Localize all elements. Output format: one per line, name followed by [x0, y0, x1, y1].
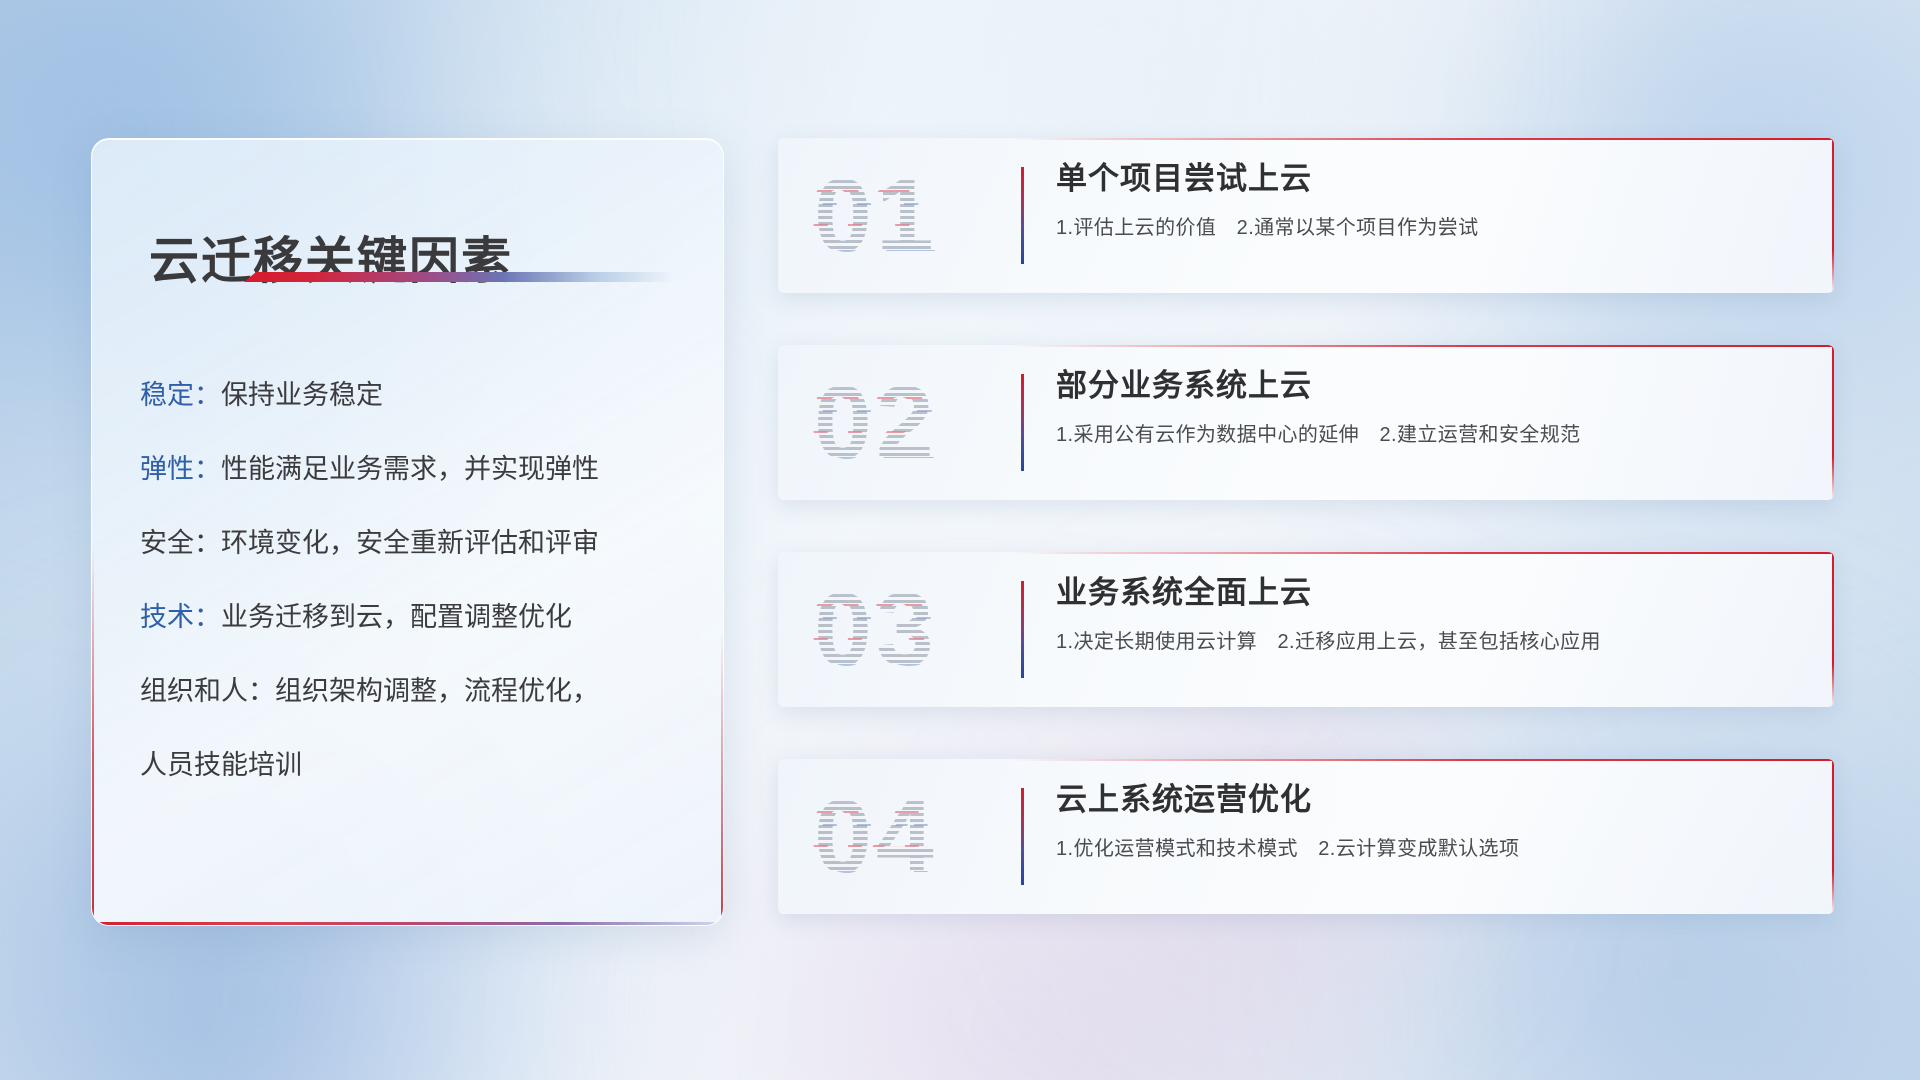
factor-value: 环境变化，安全重新评估和评审 [221, 528, 599, 558]
card-body: 云上系统运营优化 1.优化运营模式和技术模式 2.云计算变成默认选项 [1056, 781, 1794, 862]
factor-value: 性能满足业务需求，并实现弹性 [221, 454, 599, 484]
factor-value: 组织架构调整，流程优化， [275, 676, 599, 706]
card-right-accent-line [1832, 552, 1834, 707]
card-divider-bar [1021, 581, 1024, 678]
stage-points: 1.优化运营模式和技术模式 2.云计算变成默认选项 [1056, 836, 1794, 862]
stage-card-01[interactable]: 01 01 01 01 单个项目尝试上云 1.评估上云的价值 2.通常以某个项目… [778, 138, 1834, 293]
card-top-accent-line [1010, 345, 1834, 347]
card-divider-bar [1021, 788, 1024, 885]
stage-card-03[interactable]: 03 03 03 03 业务系统全面上云 1.决定长期使用云计算 2.迁移应用上… [778, 552, 1834, 707]
factor-key: 安全： [140, 528, 221, 558]
stage-number-glyph: 01 01 01 01 [814, 156, 1004, 276]
stage-card-02[interactable]: 02 02 02 02 部分业务系统上云 1.采用公有云作为数据中心的延伸 2.… [778, 345, 1834, 500]
panel-right-accent-edge [721, 626, 723, 925]
card-body: 业务系统全面上云 1.决定长期使用云计算 2.迁移应用上云，甚至包括核心应用 [1056, 574, 1794, 655]
stage-title: 单个项目尝试上云 [1056, 160, 1794, 199]
card-divider-bar [1021, 374, 1024, 471]
stage-number-glyph: 04 04 04 04 [814, 777, 1004, 897]
migration-stage-list: 01 01 01 01 单个项目尝试上云 1.评估上云的价值 2.通常以某个项目… [778, 138, 1834, 914]
factor-item-organization-continued: 人员技能培训 [140, 752, 697, 779]
factor-item-security: 安全：环境变化，安全重新评估和评审 [140, 530, 697, 557]
factor-item-organization: 组织和人：组织架构调整，流程优化， [140, 678, 697, 705]
factor-key: 稳定： [140, 380, 221, 410]
stage-title: 云上系统运营优化 [1056, 781, 1794, 820]
stage-card-04[interactable]: 04 04 04 04 云上系统运营优化 1.优化运营模式和技术模式 2.云计算… [778, 759, 1834, 914]
factor-list: 稳定：保持业务稳定 弹性：性能满足业务需求，并实现弹性 安全：环境变化，安全重新… [140, 382, 697, 779]
stage-number-fade-overlay: 01 [814, 156, 1004, 276]
stage-number-fade-overlay: 04 [814, 777, 1004, 897]
factor-key: 弹性： [140, 454, 221, 484]
stage-title: 业务系统全面上云 [1056, 574, 1794, 613]
card-body: 单个项目尝试上云 1.评估上云的价值 2.通常以某个项目作为尝试 [1056, 160, 1794, 241]
card-divider-bar [1021, 167, 1024, 264]
stage-number-fade-overlay: 03 [814, 570, 1004, 690]
stage-title: 部分业务系统上云 [1056, 367, 1794, 406]
card-top-accent-line [1010, 138, 1834, 140]
factor-item-stability: 稳定：保持业务稳定 [140, 382, 697, 409]
stage-number-fade-overlay: 02 [814, 363, 1004, 483]
factor-key: 技术： [140, 602, 221, 632]
factor-key: 组织和人： [140, 676, 275, 706]
stage-number-glyph: 03 03 03 03 [814, 570, 1004, 690]
panel-left-accent-edge [92, 548, 94, 925]
stage-points: 1.采用公有云作为数据中心的延伸 2.建立运营和安全规范 [1056, 422, 1794, 448]
factor-item-technology: 技术：业务迁移到云，配置调整优化 [140, 604, 697, 631]
card-right-accent-line [1832, 759, 1834, 914]
card-top-accent-line [1010, 552, 1834, 554]
card-body: 部分业务系统上云 1.采用公有云作为数据中心的延伸 2.建立运营和安全规范 [1056, 367, 1794, 448]
factor-value: 人员技能培训 [140, 750, 302, 780]
stage-number-glyph: 02 02 02 02 [814, 363, 1004, 483]
card-right-accent-line [1832, 345, 1834, 500]
factor-value: 业务迁移到云，配置调整优化 [221, 602, 572, 632]
title-underline-accent [244, 272, 674, 282]
slide-stage: 云迁移关键因素 稳定：保持业务稳定 弹性：性能满足业务需求，并实现弹性 安全：环… [0, 0, 1920, 1080]
card-right-accent-line [1832, 138, 1834, 293]
stage-points: 1.决定长期使用云计算 2.迁移应用上云，甚至包括核心应用 [1056, 629, 1794, 655]
factor-value: 保持业务稳定 [221, 380, 383, 410]
stage-points: 1.评估上云的价值 2.通常以某个项目作为尝试 [1056, 215, 1794, 241]
factor-item-elasticity: 弹性：性能满足业务需求，并实现弹性 [140, 456, 697, 483]
card-top-accent-line [1010, 759, 1834, 761]
key-factors-panel: 云迁移关键因素 稳定：保持业务稳定 弹性：性能满足业务需求，并实现弹性 安全：环… [91, 138, 724, 926]
